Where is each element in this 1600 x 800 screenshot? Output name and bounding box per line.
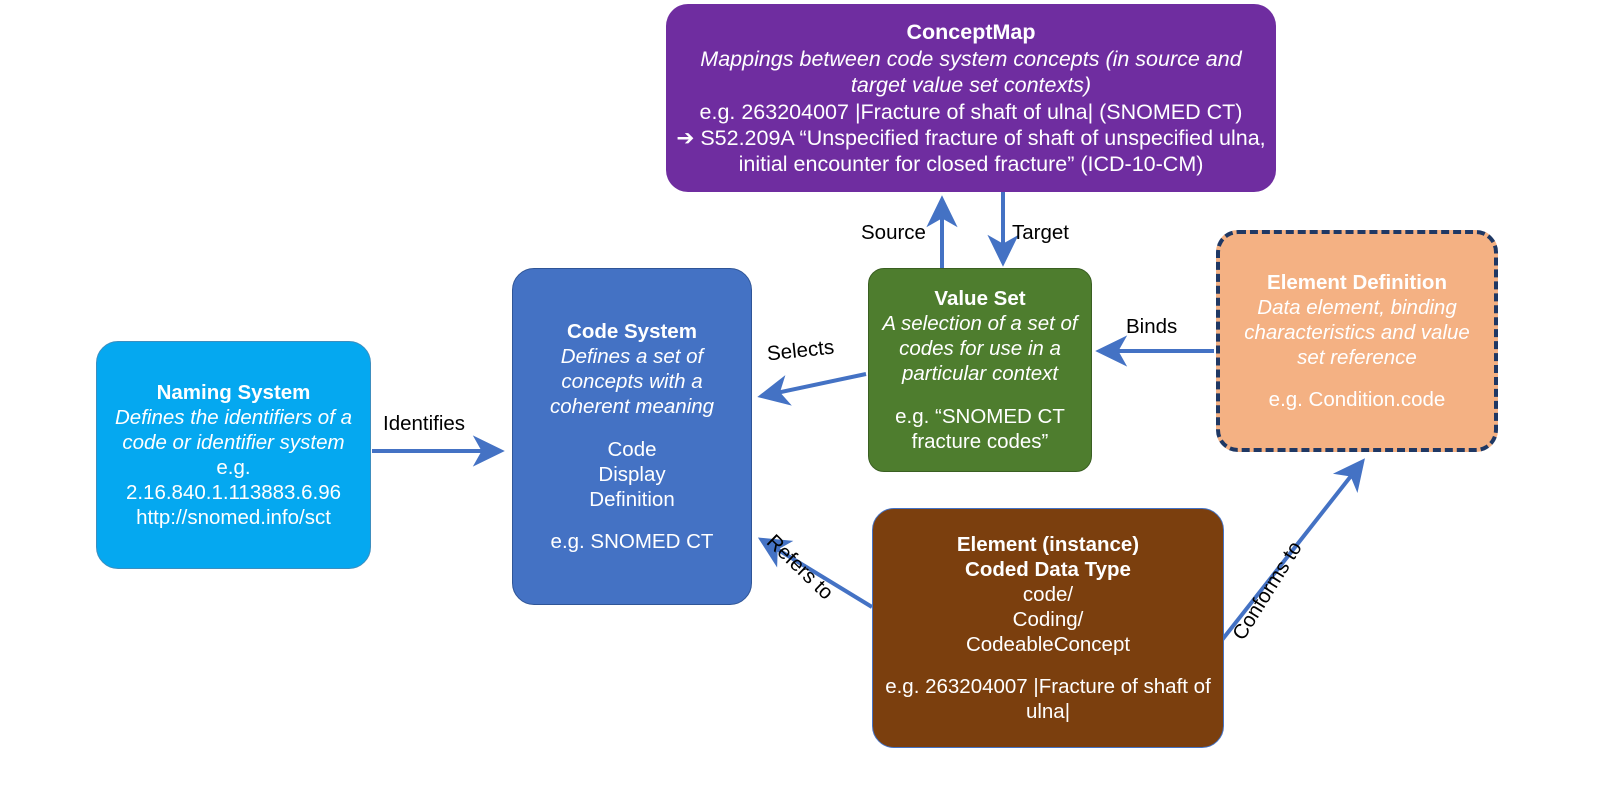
code-system-title: Code System bbox=[567, 319, 697, 344]
element-instance-type-coding: Coding/ bbox=[1013, 607, 1084, 632]
code-system-property-display: Display bbox=[598, 462, 665, 487]
naming-system-subtitle: Defines the identifiers of a code or ide… bbox=[107, 405, 360, 455]
node-code-system[interactable]: Code System Defines a set of concepts wi… bbox=[512, 268, 752, 605]
code-system-property-definition: Definition bbox=[589, 487, 674, 512]
element-instance-type-codeableconcept: CodeableConcept bbox=[966, 632, 1130, 657]
node-naming-system[interactable]: Naming System Defines the identifiers of… bbox=[96, 341, 371, 569]
naming-system-title: Naming System bbox=[157, 380, 311, 405]
edge-label-target: Target bbox=[1012, 221, 1069, 245]
edge-selects bbox=[762, 374, 866, 396]
code-system-example: e.g. SNOMED CT bbox=[551, 529, 714, 554]
conceptmap-example-line1: e.g. 263204007 |Fracture of shaft of uln… bbox=[700, 99, 1243, 125]
edge-label-conforms-to: Conforms to bbox=[1228, 537, 1308, 644]
element-definition-title: Element Definition bbox=[1267, 270, 1447, 295]
code-system-subtitle: Defines a set of concepts with a coheren… bbox=[523, 344, 741, 419]
naming-system-example-line2: http://snomed.info/sct bbox=[136, 505, 331, 530]
value-set-title: Value Set bbox=[934, 286, 1025, 311]
element-definition-example: e.g. Condition.code bbox=[1269, 387, 1446, 412]
code-system-property-code: Code bbox=[607, 437, 656, 462]
edge-label-binds: Binds bbox=[1126, 315, 1177, 339]
element-instance-type-code: code/ bbox=[1023, 582, 1073, 607]
element-definition-subtitle: Data element, binding characteristics an… bbox=[1230, 295, 1484, 370]
element-instance-title-line2: Coded Data Type bbox=[965, 557, 1131, 582]
value-set-example: e.g. “SNOMED CT fracture codes” bbox=[879, 404, 1081, 454]
node-value-set[interactable]: Value Set A selection of a set of codes … bbox=[868, 268, 1092, 472]
edge-label-source: Source bbox=[861, 221, 926, 245]
node-conceptmap[interactable]: ConceptMap Mappings between code system … bbox=[666, 4, 1276, 192]
diagram-canvas: Source Target Selects Binds Identifies R… bbox=[0, 0, 1600, 800]
naming-system-example-line1: 2.16.840.1.113883.6.96 bbox=[126, 480, 341, 505]
element-instance-example: e.g. 263204007 |Fracture of shaft of uln… bbox=[883, 674, 1213, 724]
conceptmap-subtitle: Mappings between code system concepts (i… bbox=[676, 46, 1266, 98]
value-set-subtitle: A selection of a set of codes for use in… bbox=[879, 311, 1081, 386]
node-element-instance[interactable]: Element (instance) Coded Data Type code/… bbox=[872, 508, 1224, 748]
edge-label-selects: Selects bbox=[766, 336, 835, 367]
conceptmap-example-line2: ➔ S52.209A “Unspecified fracture of shaf… bbox=[676, 125, 1266, 177]
conceptmap-title: ConceptMap bbox=[907, 19, 1036, 45]
element-instance-title-line1: Element (instance) bbox=[957, 532, 1139, 557]
edge-label-refers-to: Refers to bbox=[761, 530, 838, 605]
node-element-definition[interactable]: Element Definition Data element, binding… bbox=[1216, 230, 1498, 452]
naming-system-example-label: e.g. bbox=[216, 455, 250, 480]
edge-label-identifies: Identifies bbox=[383, 412, 465, 436]
